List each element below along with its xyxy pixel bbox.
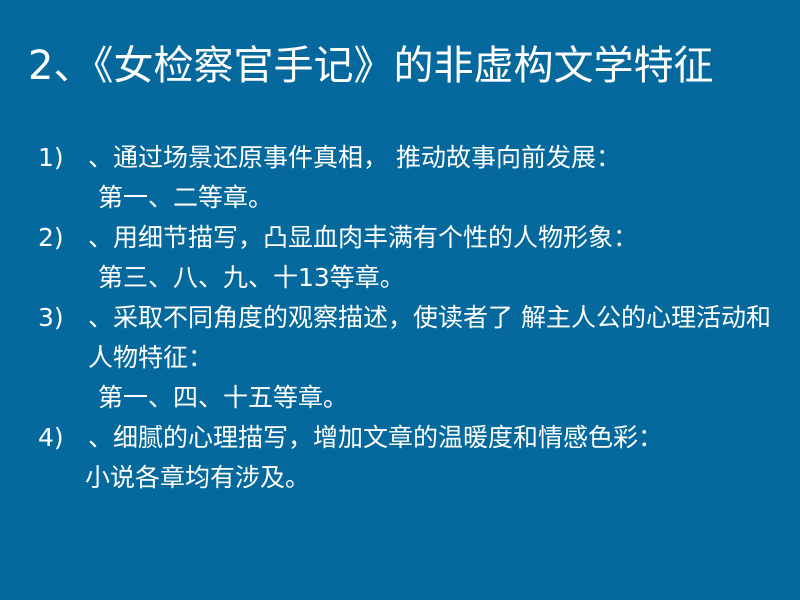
list-item-text: 、细腻的心理描写，增加文章的温暖度和情感色彩： <box>38 418 778 458</box>
list-item: 4) 、细腻的心理描写，增加文章的温暖度和情感色彩： <box>0 418 800 458</box>
page-title: 2、《女检察官手记》的非虚构文学特征 <box>28 42 788 90</box>
slide-body: 1) 、通过场景还原事件真相， 推动故事向前发展： 第一、二等章。 2) 、用细… <box>0 138 800 498</box>
list-item-marker: 2) <box>38 218 64 258</box>
list-item-subtext: 小说各章均有涉及。 <box>0 458 800 498</box>
list-item-subtext: 第一、四、十五等章。 <box>0 378 800 418</box>
list-item-text: 、采取不同角度的观察描述，使读者了 解主人公的心理活动和人物特征： <box>38 298 778 378</box>
list-item-subtext: 第一、二等章。 <box>0 178 800 218</box>
list-item-marker: 1) <box>38 138 64 178</box>
list-item-marker: 4) <box>38 418 64 458</box>
list-item: 3) 、采取不同角度的观察描述，使读者了 解主人公的心理活动和人物特征： <box>0 298 800 378</box>
list-item-text: 、通过场景还原事件真相， 推动故事向前发展： <box>38 138 778 178</box>
list-item-text: 、用细节描写，凸显血肉丰满有个性的人物形象： <box>38 218 778 258</box>
list-item-subtext: 第三、八、九、十13等章。 <box>0 258 800 298</box>
list-item-marker: 3) <box>38 298 64 338</box>
list-item: 1) 、通过场景还原事件真相， 推动故事向前发展： <box>0 138 800 178</box>
slide-canvas: 2、《女检察官手记》的非虚构文学特征 1) 、通过场景还原事件真相， 推动故事向… <box>0 0 800 600</box>
list-item: 2) 、用细节描写，凸显血肉丰满有个性的人物形象： <box>0 218 800 258</box>
